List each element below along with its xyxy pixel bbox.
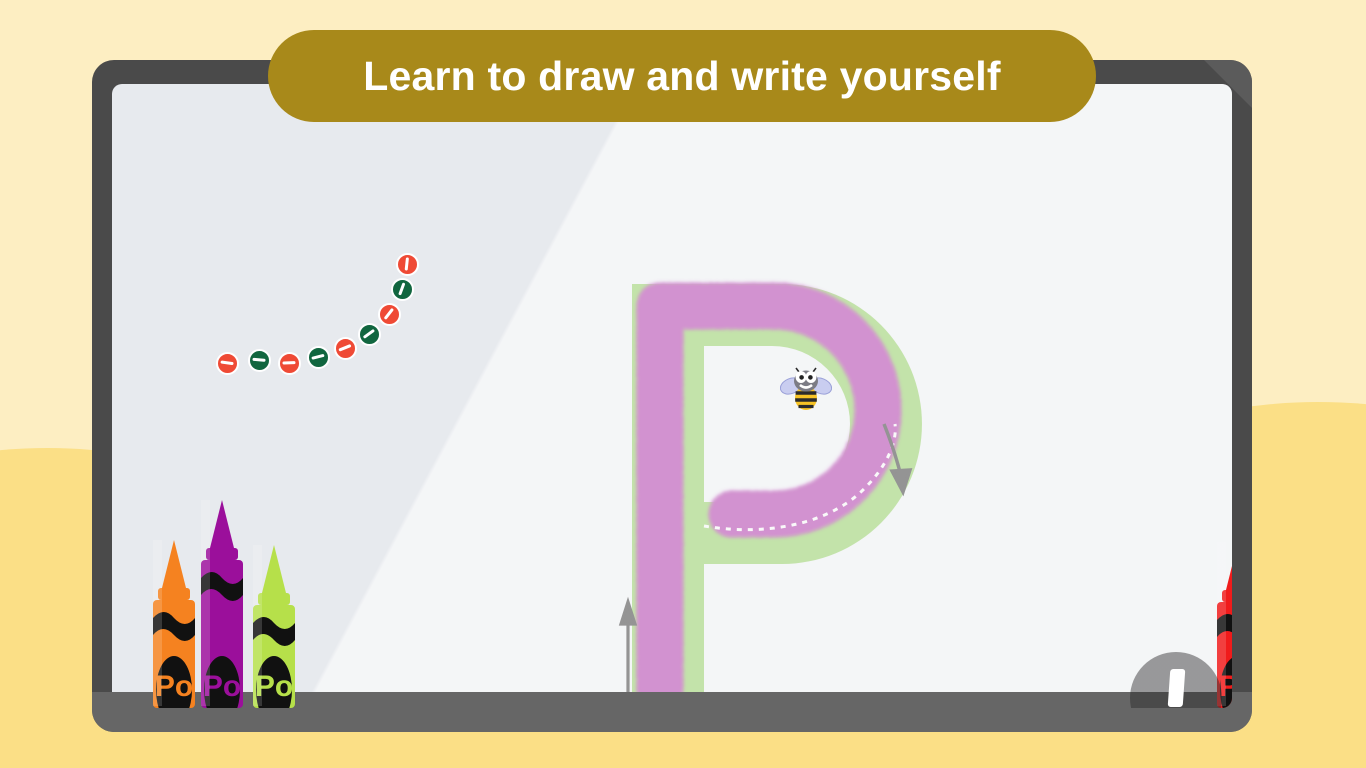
guide-dot[interactable] [391,278,414,301]
guide-dot-dash [405,257,410,270]
bee-cursor[interactable] [780,367,832,413]
page-title: Learn to draw and write yourself [268,30,1096,122]
guide-dot[interactable] [278,352,301,375]
guide-dot-dash [384,308,395,320]
guide-dot[interactable] [378,303,401,326]
guide-dot[interactable] [396,253,419,276]
guide-dot-dash [252,358,265,363]
crayon-purple[interactable]: Po [200,498,244,708]
crayon-orange[interactable]: Po [152,538,196,708]
app-root: PoPoPo PoPoPo Learn to draw and write yo… [0,0,1366,768]
exclamation-icon [1167,669,1185,708]
page-title-label: Learn to draw and write yourself [363,53,1000,100]
guide-dot[interactable] [248,349,271,372]
guide-dot[interactable] [307,346,330,369]
whiteboard-surface[interactable]: PoPoPo PoPoPo [112,84,1232,708]
crayon-lime[interactable]: Po [252,543,296,708]
guide-dot[interactable] [216,352,239,375]
guide-dot-dash [363,329,376,339]
guide-dot[interactable] [334,337,357,360]
letter-p-graphic [612,264,942,708]
whiteboard-frame: PoPoPo PoPoPo [92,60,1252,732]
guide-dot-dash [282,361,295,365]
guide-dot-dash [220,360,233,365]
guide-dot-dash [398,282,406,295]
guide-dot-dash [311,354,324,360]
guide-dot[interactable] [358,323,381,346]
guide-dot-dash [338,344,351,352]
